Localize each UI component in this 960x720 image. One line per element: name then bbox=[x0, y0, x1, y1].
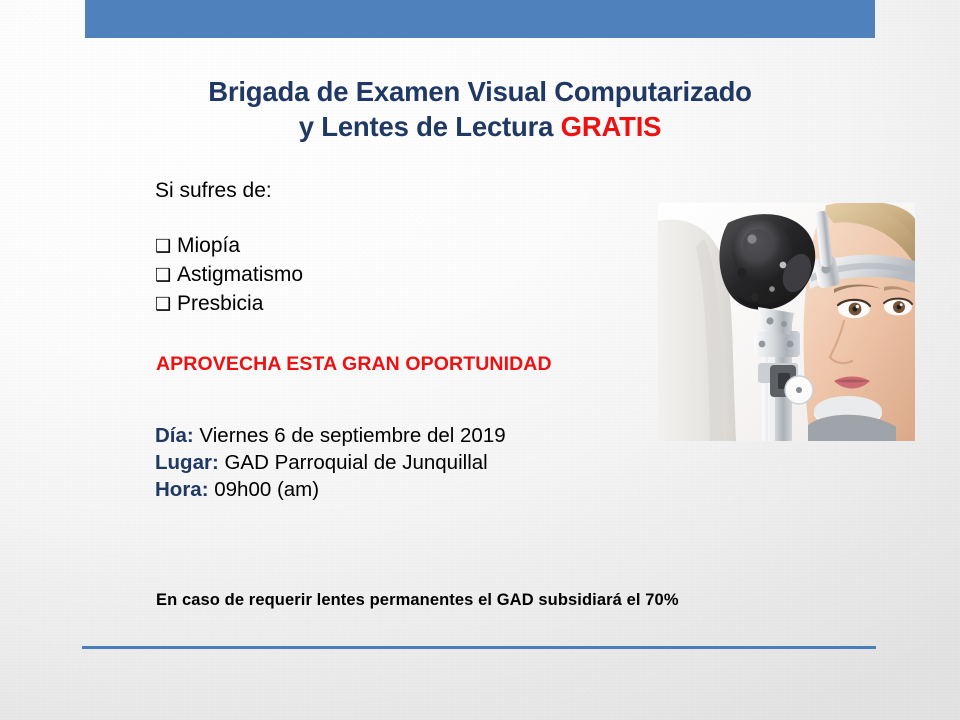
detail-label-lugar: Lugar: bbox=[155, 451, 219, 474]
checkbox-square-icon: ❑ bbox=[155, 237, 177, 255]
title-line-1: Brigada de Examen Visual Computarizado bbox=[60, 74, 900, 109]
detail-value-hora: 09h00 (am) bbox=[209, 478, 320, 501]
callout-text: APROVECHA ESTA GRAN OPORTUNIDAD bbox=[156, 353, 552, 376]
eye-exam-illustration bbox=[658, 203, 915, 441]
intro-text: Si sufres de: bbox=[155, 178, 272, 203]
top-accent-bar bbox=[85, 0, 875, 38]
conditions-list: ❑ Miopía ❑ Astigmatismo ❑ Presbicia bbox=[155, 234, 303, 321]
title-line-2-prefix: y Lentes de Lectura bbox=[299, 111, 561, 142]
slide-canvas: Brigada de Examen Visual Computarizado y… bbox=[0, 0, 960, 720]
list-item: ❑ Miopía bbox=[155, 234, 303, 263]
footnote-text: En caso de requerir lentes permanentes e… bbox=[156, 591, 679, 610]
checkbox-square-icon: ❑ bbox=[155, 266, 177, 284]
event-details: Día: Viernes 6 de septiembre del 2019 Lu… bbox=[155, 424, 506, 505]
list-item: ❑ Astigmatismo bbox=[155, 263, 303, 292]
list-item: ❑ Presbicia bbox=[155, 292, 303, 321]
detail-label-dia: Día: bbox=[155, 424, 194, 447]
detail-row-dia: Día: Viernes 6 de septiembre del 2019 bbox=[155, 424, 506, 451]
detail-row-hora: Hora: 09h00 (am) bbox=[155, 478, 506, 505]
checkbox-square-icon: ❑ bbox=[155, 295, 177, 313]
detail-row-lugar: Lugar: GAD Parroquial de Junquillal bbox=[155, 451, 506, 478]
eye-exam-photo bbox=[658, 203, 915, 441]
detail-value-lugar: GAD Parroquial de Junquillal bbox=[219, 451, 488, 474]
list-item-label: Astigmatismo bbox=[177, 263, 303, 287]
detail-value-dia: Viernes 6 de septiembre del 2019 bbox=[194, 424, 506, 447]
title-line-2: y Lentes de Lectura GRATIS bbox=[60, 109, 900, 144]
list-item-label: Presbicia bbox=[177, 292, 263, 316]
list-item-label: Miopía bbox=[177, 234, 240, 258]
page-title: Brigada de Examen Visual Computarizado y… bbox=[60, 74, 900, 144]
bottom-divider bbox=[82, 646, 876, 649]
detail-label-hora: Hora: bbox=[155, 478, 209, 501]
title-highlight-gratis: GRATIS bbox=[561, 111, 662, 142]
